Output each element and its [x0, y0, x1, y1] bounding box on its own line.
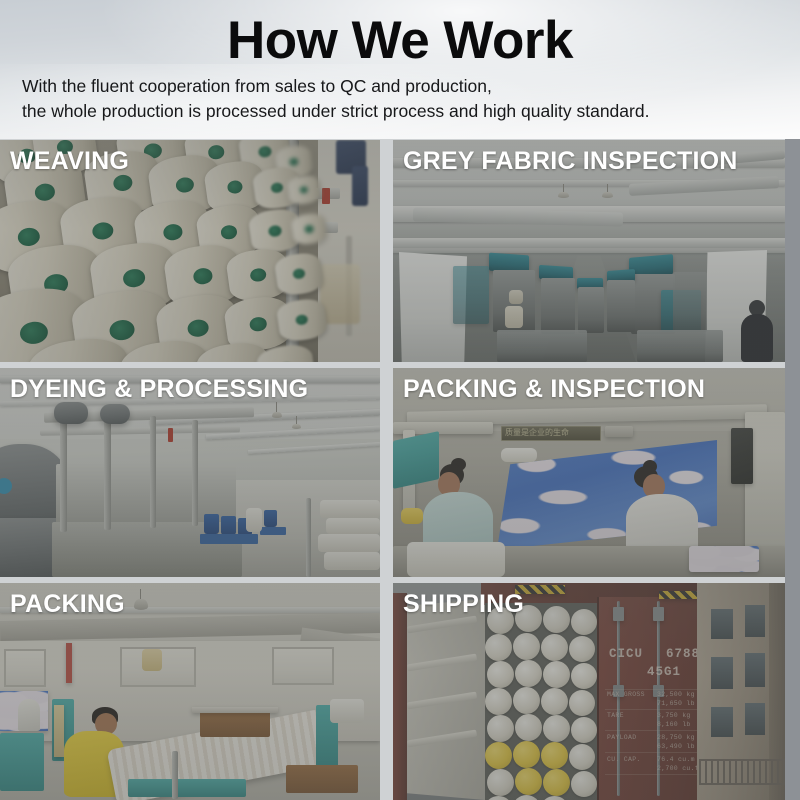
- container-spec-payload-kg: 28,750 kg: [657, 734, 695, 741]
- cell-label-packing-inspection: PACKING & INSPECTION: [403, 374, 705, 404]
- process-photo-grid: WEAVING: [0, 139, 800, 800]
- cell-label-grey-fabric-inspection: GREY FABRIC INSPECTION: [403, 146, 738, 176]
- process-cell-dyeing-processing[interactable]: DYEING & PROCESSING: [0, 368, 380, 577]
- cell-label-shipping: SHIPPING: [403, 589, 524, 619]
- page-subtitle-line-1: With the fluent cooperation from sales t…: [22, 74, 782, 99]
- container-spec-max-gross-lb: 71,650 lb: [657, 700, 695, 707]
- how-we-work-page: How We Work With the fluent cooperation …: [0, 0, 800, 800]
- process-cell-packing-inspection[interactable]: 质量是企业的生命: [393, 368, 785, 577]
- container-cargo: [485, 603, 597, 800]
- factory-sign-text: 质量是企业的生命: [505, 428, 569, 438]
- factory-sign: 质量是企业的生命: [501, 426, 601, 441]
- cell-label-packing: PACKING: [10, 589, 125, 619]
- page-title: How We Work: [0, 11, 800, 71]
- cell-label-weaving: WEAVING: [10, 146, 129, 176]
- container-spec-cucap-cbm: 76.4 cu.m: [657, 756, 695, 763]
- container-spec-payload-label: PAYLOAD: [607, 734, 636, 741]
- process-cell-shipping[interactable]: CICU 678802 5 45G1 MAX GROSS 32,500 kg 7…: [393, 583, 785, 800]
- process-cell-grey-fabric-inspection[interactable]: GREY FABRIC INSPECTION: [393, 140, 785, 362]
- container-owner-code: CICU: [609, 647, 643, 661]
- container-door: CICU 678802 5 45G1 MAX GROSS 32,500 kg 7…: [597, 597, 705, 800]
- container-spec-max-gross-kg: 32,500 kg: [657, 691, 695, 698]
- container-spec-tare-lb: 8,160 lb: [657, 721, 691, 728]
- container-size-type: 45G1: [647, 665, 681, 679]
- right-edge-strip: [785, 139, 800, 800]
- container-spec-max-gross-label: MAX GROSS: [607, 691, 645, 698]
- page-subtitle-line-2: the whole production is processed under …: [22, 99, 782, 124]
- container-spec-cucap-label: CU. CAP.: [607, 756, 641, 763]
- page-header: How We Work With the fluent cooperation …: [0, 0, 800, 139]
- process-cell-packing[interactable]: PACKING: [0, 583, 380, 800]
- container-spec-tare-kg: 3,750 kg: [657, 712, 691, 719]
- container-spec-payload-lb: 63,490 lb: [657, 743, 695, 750]
- process-cell-weaving[interactable]: WEAVING: [0, 140, 380, 362]
- container-spec-tare-label: TARE: [607, 712, 624, 719]
- cell-label-dyeing-processing: DYEING & PROCESSING: [10, 374, 308, 404]
